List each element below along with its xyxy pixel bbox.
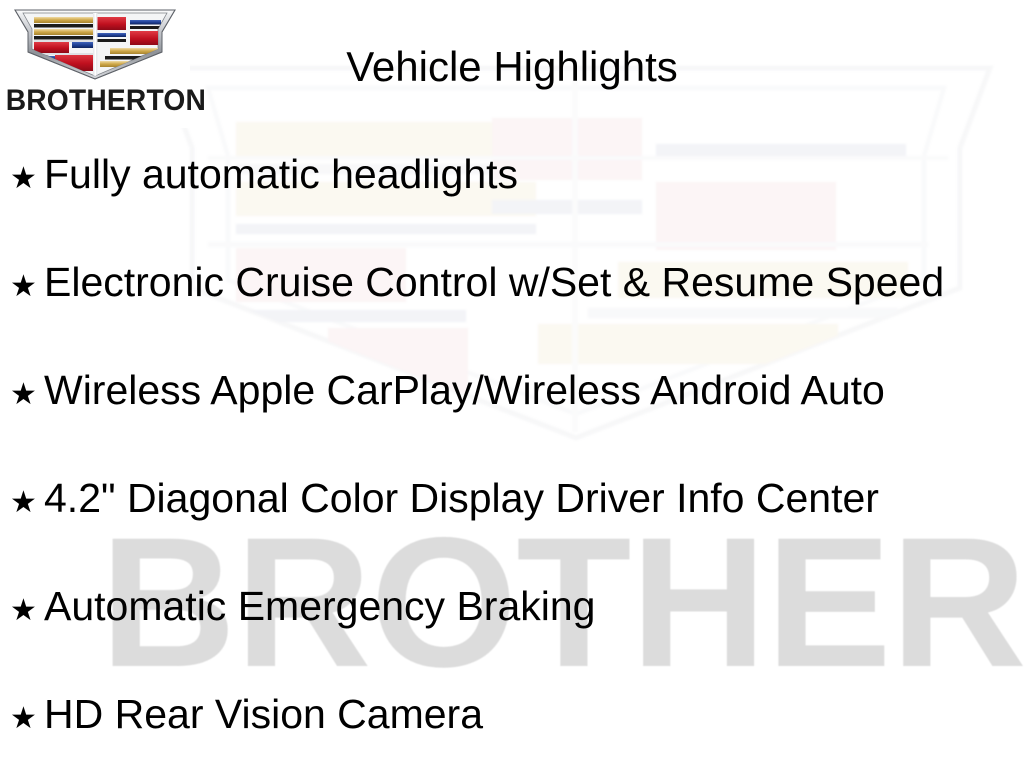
list-item: ★ Fully automatic headlights bbox=[0, 150, 1024, 258]
star-bullet-icon: ★ bbox=[10, 488, 44, 518]
dealer-name-text: BROTHERTON bbox=[6, 84, 185, 118]
cadillac-crest-icon bbox=[12, 6, 178, 80]
list-item-label: Wireless Apple CarPlay/Wireless Android … bbox=[44, 366, 1024, 414]
list-item-label: Electronic Cruise Control w/Set & Resume… bbox=[44, 258, 1024, 306]
dealer-logo: BROTHERTON bbox=[0, 0, 190, 128]
list-item-label: Fully automatic headlights bbox=[44, 150, 1024, 198]
star-bullet-icon: ★ bbox=[10, 164, 44, 194]
list-item: ★ HD Rear Vision Camera bbox=[0, 690, 1024, 768]
list-item: ★ Wireless Apple CarPlay/Wireless Androi… bbox=[0, 366, 1024, 474]
list-item: ★ Automatic Emergency Braking bbox=[0, 582, 1024, 690]
highlights-list: ★ Fully automatic headlights ★ Electroni… bbox=[0, 150, 1024, 768]
vehicle-highlights-slide: BROTHERTON bbox=[0, 0, 1024, 768]
list-item-label: 4.2" Diagonal Color Display Driver Info … bbox=[44, 474, 1024, 522]
star-bullet-icon: ★ bbox=[10, 704, 44, 734]
list-item-label: HD Rear Vision Camera bbox=[44, 690, 1024, 738]
star-bullet-icon: ★ bbox=[10, 596, 44, 626]
star-bullet-icon: ★ bbox=[10, 272, 44, 302]
list-item: ★ 4.2" Diagonal Color Display Driver Inf… bbox=[0, 474, 1024, 582]
star-bullet-icon: ★ bbox=[10, 380, 44, 410]
list-item: ★ Electronic Cruise Control w/Set & Resu… bbox=[0, 258, 1024, 366]
list-item-label: Automatic Emergency Braking bbox=[44, 582, 1024, 630]
